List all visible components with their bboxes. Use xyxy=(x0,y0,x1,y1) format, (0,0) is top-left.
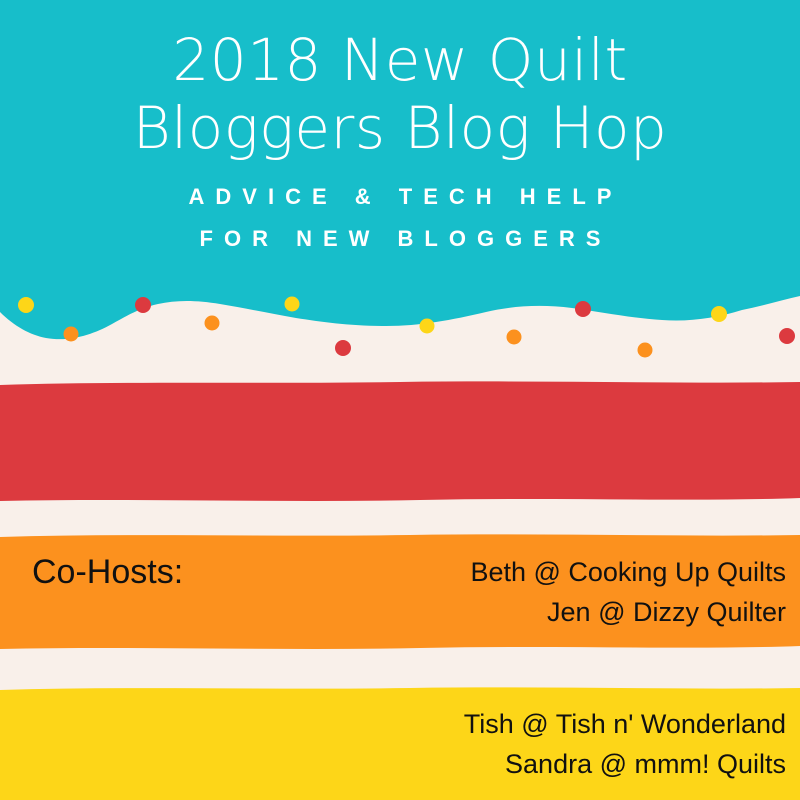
cohost-names-yellow: Tish @ Tish n' Wonderland Sandra @ mmm! … xyxy=(464,704,786,784)
poster-text-layer: 2018 New Quilt Bloggers Blog Hop ADVICE … xyxy=(0,0,800,800)
cohost-names-orange: Beth @ Cooking Up Quilts Jen @ Dizzy Qui… xyxy=(470,552,786,632)
cohost-name: Jen @ Dizzy Quilter xyxy=(470,592,786,632)
poster-title-line-1: 2018 New Quilt xyxy=(0,0,800,94)
cohost-name: Sandra @ mmm! Quilts xyxy=(464,744,786,784)
cohosts-label: Co-Hosts: xyxy=(32,552,183,592)
cohost-name: Tish @ Tish n' Wonderland xyxy=(464,704,786,744)
cohost-name: Beth @ Cooking Up Quilts xyxy=(470,552,786,592)
blog-hop-poster: 2018 New Quilt Bloggers Blog Hop ADVICE … xyxy=(0,0,800,800)
poster-title-line-2: Bloggers Blog Hop xyxy=(0,94,800,162)
header-block: 2018 New Quilt Bloggers Blog Hop ADVICE … xyxy=(0,0,800,285)
poster-subtitle-line-2: FOR NEW BLOGGERS xyxy=(0,218,800,260)
poster-subtitle-line-1: ADVICE & TECH HELP xyxy=(0,162,800,218)
